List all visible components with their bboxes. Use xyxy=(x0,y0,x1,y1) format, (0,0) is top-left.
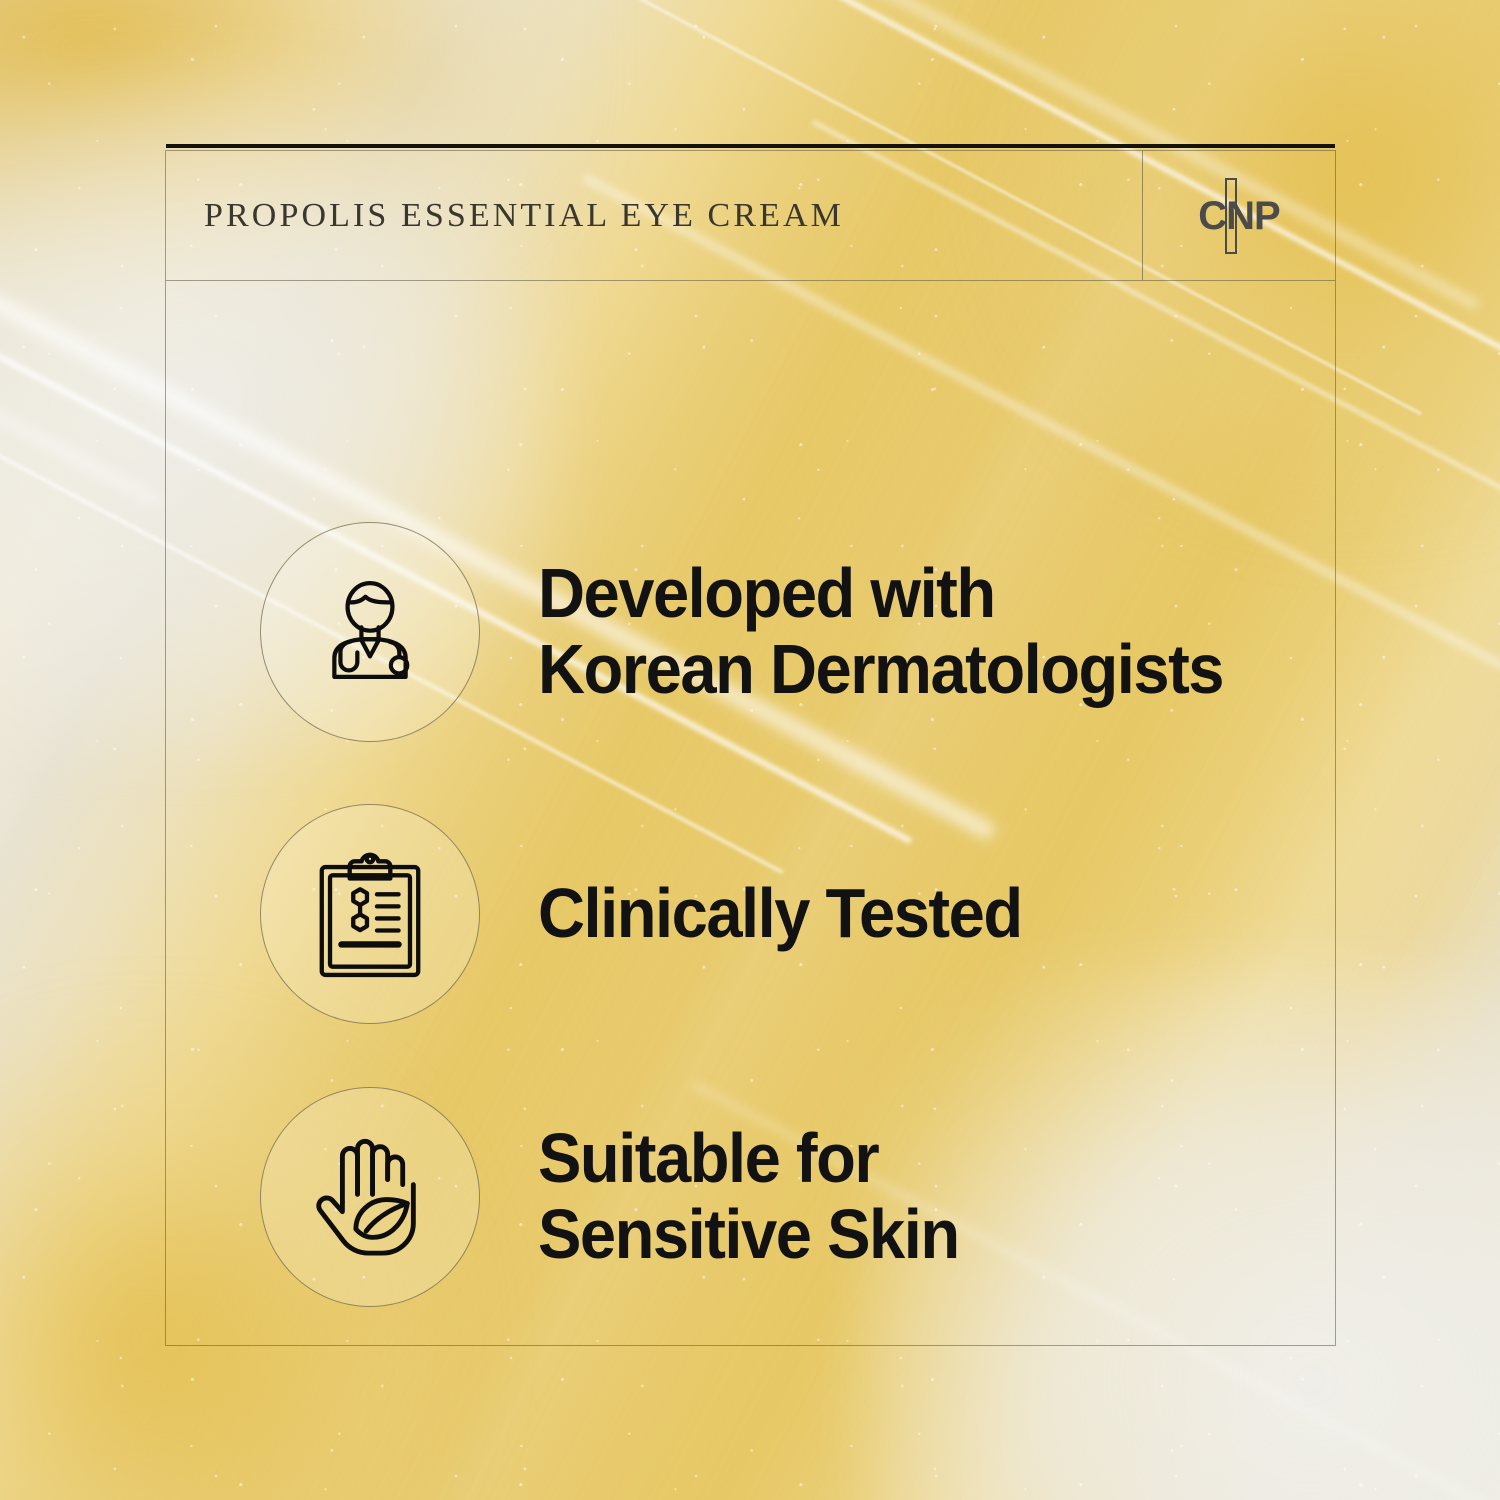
header-title-cell: PROPOLIS ESSENTIAL EYE CREAM xyxy=(166,151,1143,280)
cnp-bar-mark-icon xyxy=(1225,178,1237,254)
content-frame: PROPOLIS ESSENTIAL EYE CREAM CNP xyxy=(165,150,1336,1346)
brand-logo-text: CNP xyxy=(1198,196,1279,236)
product-feature-banner: PROPOLIS ESSENTIAL EYE CREAM CNP xyxy=(0,0,1500,1500)
feature-item: Clinically Tested xyxy=(166,804,1335,1024)
header-bar: PROPOLIS ESSENTIAL EYE CREAM CNP xyxy=(166,151,1335,281)
frame-top-rule xyxy=(166,144,1335,148)
feature-item: Suitable for Sensitive Skin xyxy=(166,1087,1335,1307)
clipboard-checklist-icon xyxy=(310,848,430,980)
feature-list: Developed with Korean Dermatologists xyxy=(166,281,1335,1345)
feature-icon-circle xyxy=(260,1087,480,1307)
feature-item: Developed with Korean Dermatologists xyxy=(166,522,1335,742)
header-logo-cell: CNP xyxy=(1143,151,1335,280)
feature-icon-circle xyxy=(260,804,480,1024)
hand-leaf-icon xyxy=(300,1131,440,1263)
feature-label: Suitable for Sensitive Skin xyxy=(538,1121,959,1272)
page-title: PROPOLIS ESSENTIAL EYE CREAM xyxy=(204,197,844,235)
brand-logo: CNP xyxy=(1183,166,1295,266)
feature-icon-circle xyxy=(260,522,480,742)
doctor-stethoscope-icon xyxy=(304,566,436,698)
feature-label: Developed with Korean Dermatologists xyxy=(538,556,1223,707)
feature-label: Clinically Tested xyxy=(538,876,1022,952)
